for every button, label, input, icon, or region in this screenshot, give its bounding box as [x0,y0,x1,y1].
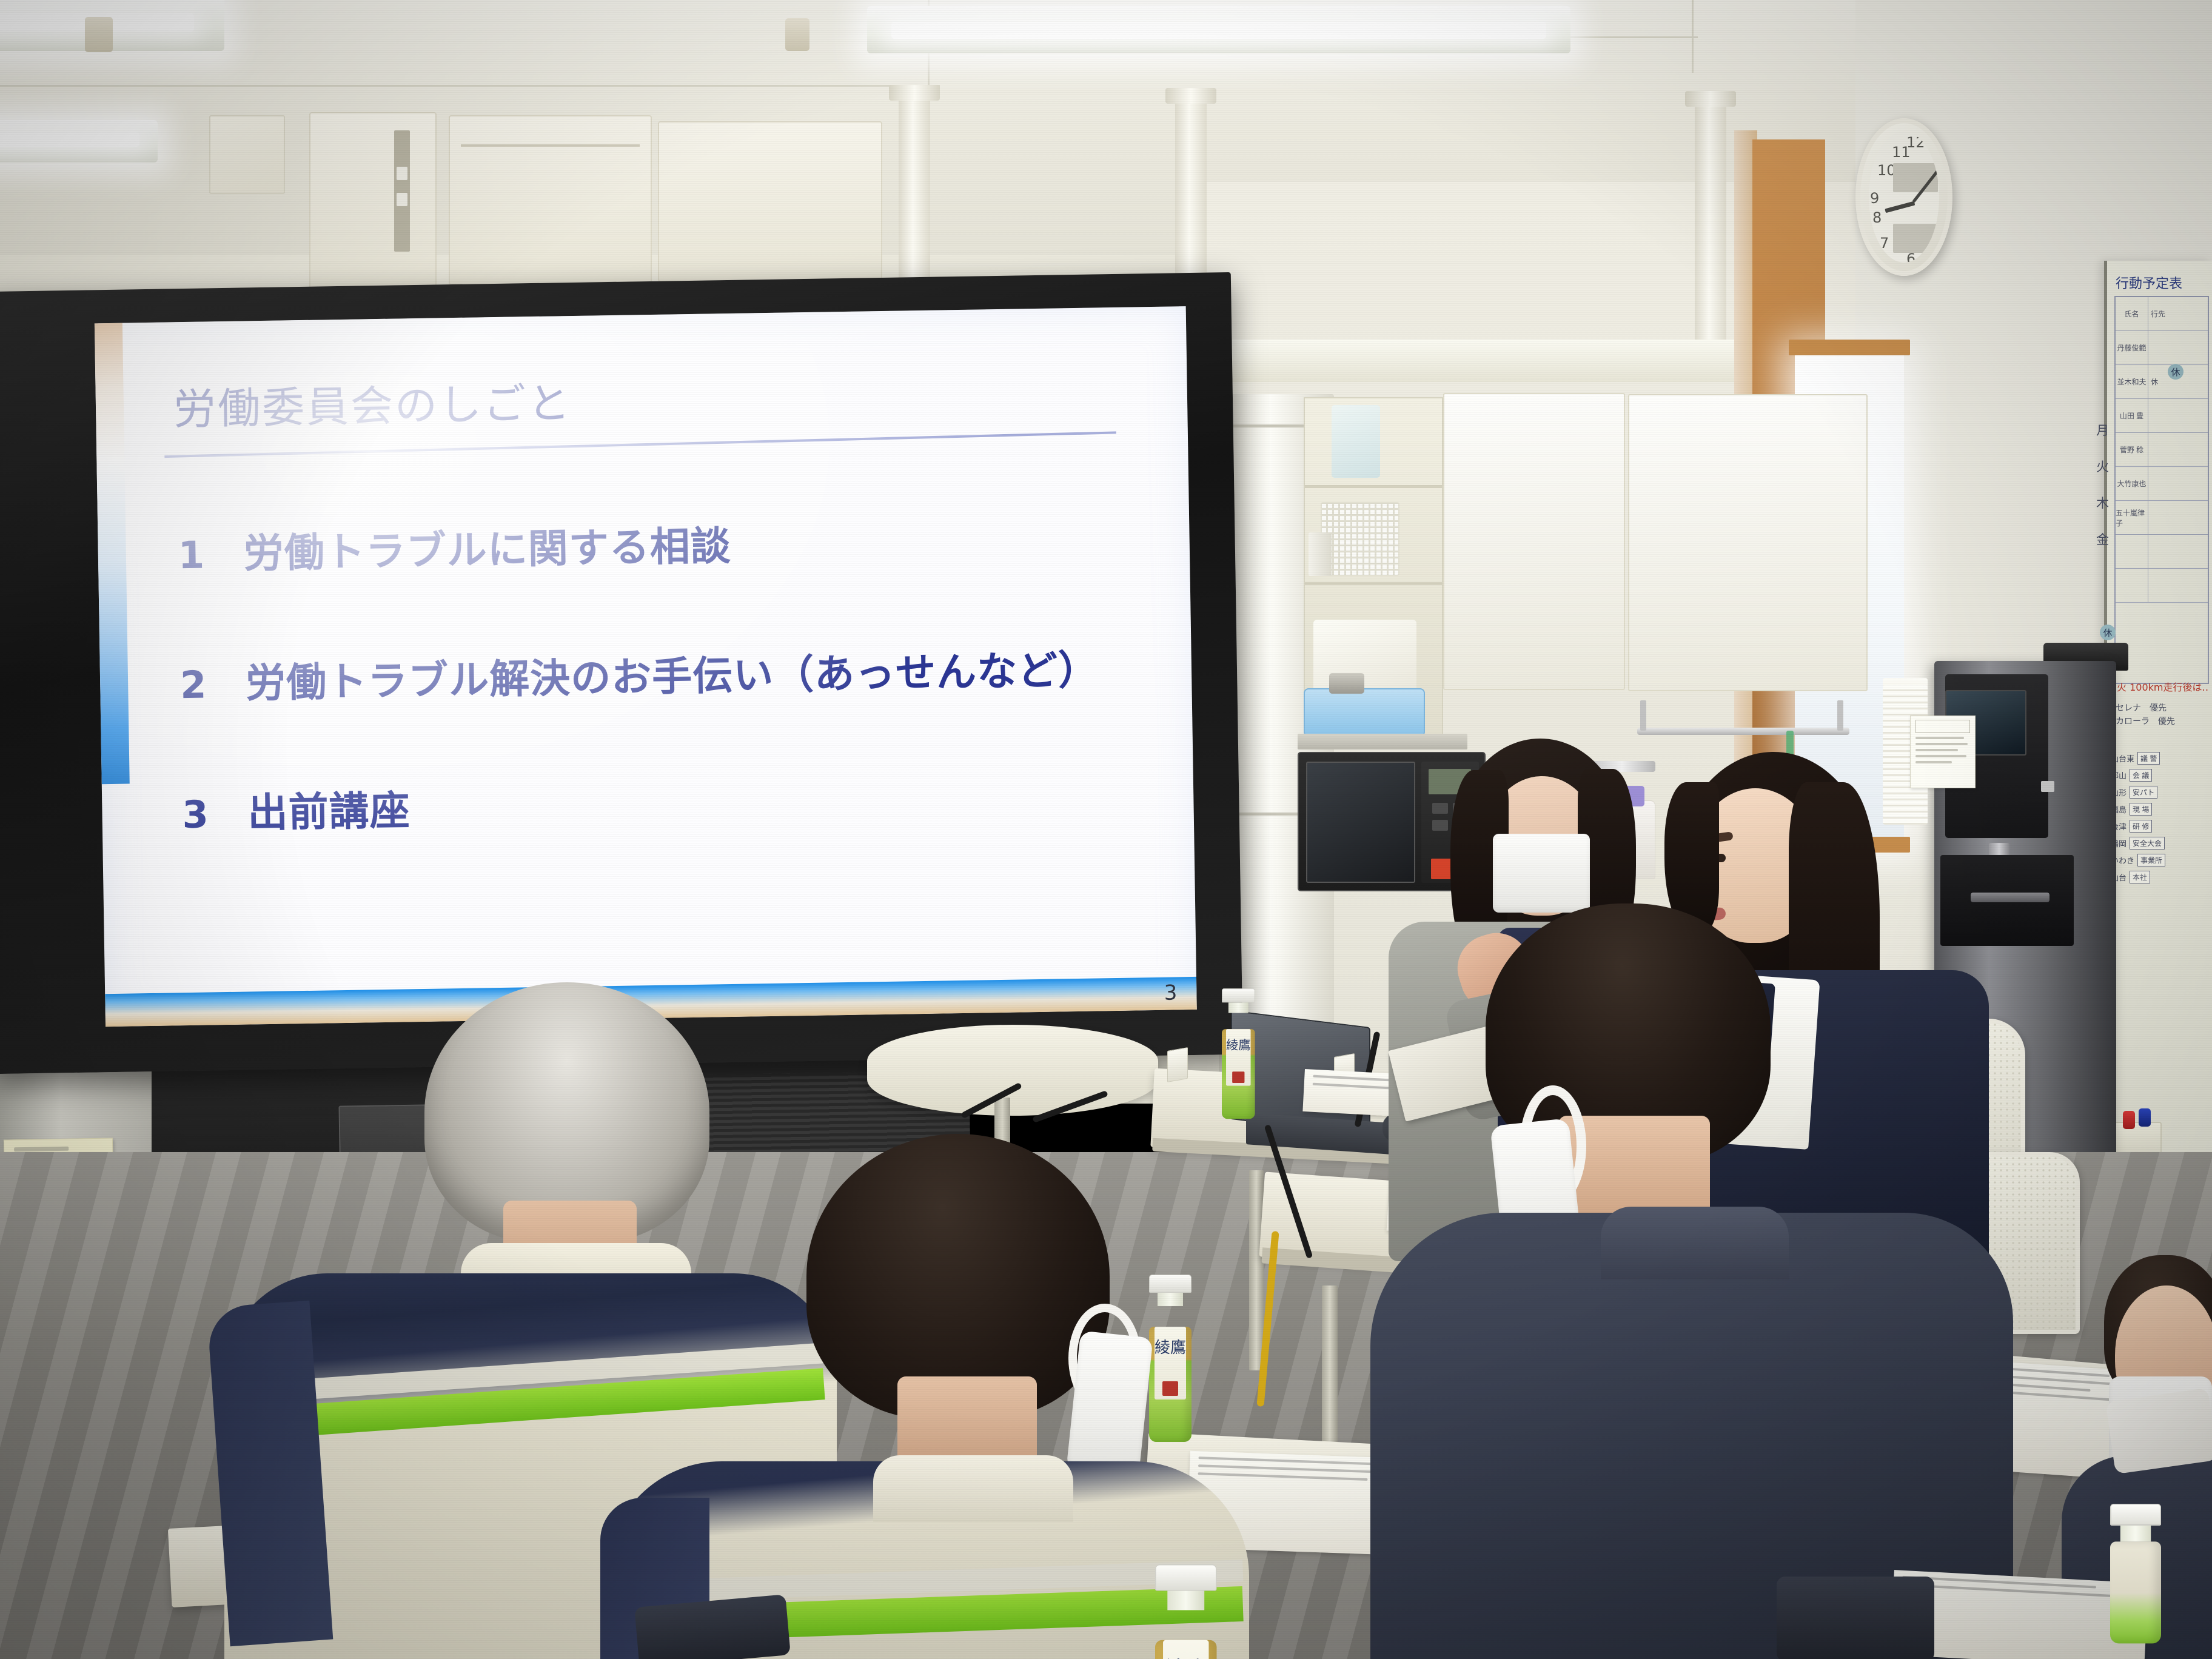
microwave-door[interactable] [1306,762,1415,883]
whiteboard-memo: セレナ 優先 カローラ 優先 [2116,701,2175,728]
machine-usage-notice [1910,716,1976,788]
list-item: 3 出前講座 [182,766,1165,840]
face-mask [1066,1330,1153,1476]
row-dest [2148,433,2208,466]
bottle-neck [1158,1293,1183,1306]
red-marker-icon[interactable] [2123,1111,2135,1129]
brand-name: 綾鷹 [1163,1652,1208,1659]
slide-page-number: 3 [1164,980,1177,1005]
kitchen-cabinet-right[interactable] [1628,394,1868,691]
counter-edge [1298,734,1467,749]
branch-chip: 議 警 [2137,752,2160,765]
row-name: 山田 豊 [2116,399,2148,432]
table-row: 並木和夫 休 [2116,365,2208,399]
blue-wash-tub [1304,688,1425,737]
ac-vent-line [461,144,640,147]
branch-chip: 安パト [2130,786,2157,799]
table-header-dest: 行先 [2148,297,2208,330]
sprinkler-head [785,18,809,51]
projection-screen: 労働委員会のしごと 1 労働トラブルに関する相談 2 労働トラブル解決のお手伝い… [0,272,1243,1074]
sprinkler-head [85,17,113,52]
bottle-neck [1167,1591,1204,1610]
meeting-room-scene: 12 1 3 5 6 7 8 9 10 11 [0,0,2212,1659]
rail-bracket [1837,700,1843,731]
branch-list: 仙台東 議 警 郡山 会 議 山形 安パト 福島 現 場 会津 研 修 鶴岡 安… [2111,752,2211,888]
list-item: 福島 現 場 [2111,803,2211,816]
clock-numeral-11: 11 [1892,144,1911,161]
ceiling-light-tube [0,132,139,147]
branch-chip: 会 議 [2130,769,2152,782]
tea-bottle[interactable]: 綾鷹 [1222,988,1255,1119]
wall-clock: 12 1 3 5 6 7 8 9 10 11 [1855,118,1952,276]
paper-text-line [1198,1456,1386,1466]
day-label-column: 月 火 木 金 [2096,412,2109,558]
plastic-bag [1332,405,1380,478]
paper-text-line [1198,1472,1368,1481]
clock-numeral-9: 9 [1870,190,1879,207]
day-label: 木 [2096,485,2109,521]
bullet-number: 1 [178,532,244,578]
bullet-text: 労働トラブルに関する相談 [243,514,731,580]
whiteboard-red-note: 火 100km走行後は… [2117,679,2208,694]
kitchen-towel-rail [1637,728,1849,735]
row-name: 五十嵐律子 [2116,501,2148,534]
memo-line: カローラ 優先 [2116,714,2175,728]
brand-name: 綾鷹 [1155,1335,1186,1358]
table-row: 丹藤俊範 [2116,331,2208,365]
tea-bottle[interactable]: 綾鷹 [1155,1564,1217,1659]
bullet-text: 出前講座 [247,778,411,839]
rail-bracket [1640,700,1646,731]
round-side-table [867,1025,1158,1116]
bottle-neck [2120,1526,2151,1541]
row-dest [2148,535,2208,568]
notice-line [1915,743,1968,745]
clock-hand-hour [1885,201,1915,213]
brand-seal-icon [1162,1381,1178,1396]
shelf-divider [1305,582,1442,585]
polo-collar [1601,1207,1789,1279]
bottle-cap [1149,1275,1191,1293]
intercom-button[interactable] [397,167,407,180]
notice-box [1915,720,1970,733]
presentation-slide: 労働委員会のしごと 1 労働トラブルに関する相談 2 労働トラブル解決のお手伝い… [95,306,1197,1027]
ceiling-light-tube [891,22,1546,39]
intercom-button[interactable] [397,193,407,206]
row-dest [2148,467,2208,500]
branch-chip: 本社 [2130,871,2150,883]
brand-seal-icon [1232,1071,1244,1083]
bottle-neck [1228,1002,1248,1013]
day-label: 月 [2096,412,2109,449]
row-name: 並木和夫 [2116,365,2148,398]
status-badge: 休 [2168,364,2184,380]
clock-numeral-1: 1 [1932,147,1939,164]
clock-day-window [1893,224,1938,253]
microwave-button[interactable] [1432,820,1448,831]
slide-title-underline [164,431,1116,458]
window-frame-top [1789,340,1910,355]
clock-numeral-8: 8 [1872,209,1882,226]
table-row: 五十嵐律子 [2116,501,2208,535]
notice-text-line [14,1147,69,1152]
notice-line [1915,761,1952,763]
ceiling-seam [1692,0,1694,73]
pillar-cap [889,85,940,101]
ceiling-seam [0,85,940,87]
intercom-panel [309,112,437,297]
bullet-number: 3 [182,791,248,837]
table-row [2116,569,2208,603]
intercom-strip [394,130,410,252]
tea-bottle[interactable] [2110,1504,2161,1643]
row-name: 菅野 稔 [2116,433,2148,466]
chair-back[interactable] [1777,1577,1934,1659]
face-mask [2105,1388,2212,1474]
clock-numeral-7: 7 [1880,235,1889,252]
bottle-body [2110,1541,2161,1643]
air-conditioner [449,115,652,285]
row-name: 丹藤俊範 [2116,331,2148,364]
list-item: 鶴岡 安全大会 [2111,837,2211,850]
pillar-cap [1685,91,1736,107]
dish-basket [1321,502,1399,576]
notice-line [1915,737,1964,739]
stacked-plates [1309,532,1332,576]
microwave-button[interactable] [1432,803,1448,814]
table-leg [1249,1170,1264,1370]
bottle-label: 綾鷹 [1226,1029,1251,1086]
slide-accent-bar [95,323,130,785]
slide-bullet-list: 1 労働トラブルに関する相談 2 労働トラブル解決のお手伝い（あっせんなど） 3… [178,507,1166,911]
row-name [2116,569,2148,602]
row-dest [2148,331,2208,364]
jacket-collar [873,1455,1073,1522]
status-badge: 休 [2100,625,2116,640]
clock-face: 12 1 3 5 6 7 8 9 10 11 [1869,132,1939,263]
row-dest [2148,569,2208,602]
slide-title: 労働委員会のしごと [173,369,572,437]
bottle-body: 綾鷹 [1222,1029,1255,1119]
whiteboard: 行動予定表 氏名 行先 丹藤俊範 並木和夫 休 山田 豊 菅野 稔 [2104,261,2212,1243]
bullet-text: 労働トラブル解決のお手伝い（あっせんなど） [245,637,1099,709]
table-row: 山田 豊 [2116,399,2208,433]
bullet-number: 2 [180,662,246,708]
row-name [2116,535,2148,568]
branch-chip: 現 場 [2130,803,2152,816]
shelf-divider [1305,485,1442,488]
row-dest [2148,399,2208,432]
list-item: 会津 研 修 [2111,820,2211,833]
list-item: 仙台東 議 警 [2111,752,2211,765]
bottle-body: 綾鷹 [1149,1327,1191,1442]
bottle-cap [1155,1564,1217,1591]
neck [897,1376,1037,1467]
bottle-cap [2110,1504,2161,1526]
branch-chip: 事業所 [2137,854,2165,866]
table-row: 菅野 稔 [2116,433,2208,467]
kitchen-cabinet-left[interactable] [1443,393,1625,690]
bottle-label: 綾鷹 [1155,1327,1186,1399]
drip-grate [1971,893,2049,902]
wall-cabinet [658,121,882,282]
machine-indicator [2041,781,2054,792]
row-name: 大竹康也 [2116,467,2148,500]
bottle-body: 綾鷹 [1155,1640,1217,1659]
tea-bottle[interactable]: 綾鷹 [1149,1275,1191,1442]
branch-chip: 安全大会 [2130,837,2165,850]
list-item: 郡山 会 議 [2111,769,2211,782]
list-item: 1 労働トラブルに関する相談 [178,507,1161,580]
table-header-name: 氏名 [2116,297,2148,330]
notice-line [1915,755,1966,757]
brand-name: 綾鷹 [1226,1036,1251,1053]
day-label: 金 [2096,521,2109,558]
row-dest [2148,501,2208,534]
list-item: いわき 事業所 [2111,854,2211,866]
name-plate [1167,1047,1188,1082]
bottle-cap [1222,988,1255,1002]
metal-container [1329,673,1364,694]
memo-line: セレナ 優先 [2116,701,2175,714]
notice-line [1915,749,1958,751]
table-row: 大竹康也 [2116,467,2208,501]
list-item: 仙台 本社 [2111,871,2211,883]
face-mask [1493,834,1590,913]
whiteboard-title: 行動予定表 [2116,273,2207,292]
table-row: 氏名 行先 [2116,297,2208,331]
day-label: 火 [2096,449,2109,485]
ceiling-pillar [1695,91,1726,382]
blue-marker-icon[interactable] [2139,1108,2151,1127]
wall-control-panel [209,115,285,194]
list-item: 山形 安パト [2111,786,2211,799]
bottle-label: 綾鷹 [1163,1640,1208,1659]
schedule-table: 氏名 行先 丹藤俊範 並木和夫 休 山田 豊 菅野 稔 大竹康也 [2114,296,2209,684]
list-item: 2 労働トラブル解決のお手伝い（あっせんなど） [179,637,1162,710]
pillar-cap [1165,88,1216,104]
branch-chip: 研 修 [2130,820,2152,833]
table-row [2116,535,2208,569]
